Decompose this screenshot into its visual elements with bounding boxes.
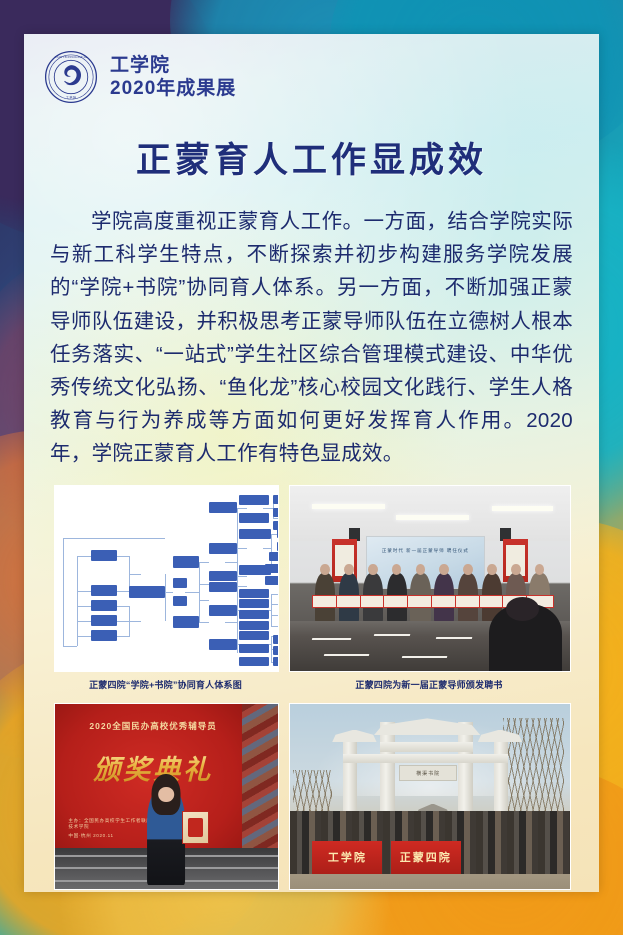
diagram-node [173, 556, 199, 568]
ceiling [290, 486, 570, 542]
diagram-node [91, 600, 117, 611]
diagram-node [273, 508, 279, 517]
person [434, 573, 454, 623]
university-emblem-icon: XI'AN TECHNOLOGICAL 工 学 院 [44, 50, 98, 104]
diagram-node [239, 631, 269, 640]
diagram-node [265, 576, 279, 585]
diagram-node [91, 615, 117, 626]
photo-certificate-ceremony[interactable]: 正蒙时代 新一届正蒙导师 聘任仪式 [289, 485, 571, 672]
diagram-node [91, 585, 117, 596]
foreground-person-head [506, 597, 540, 621]
archway-lintel [380, 742, 474, 751]
photo-caption: 正蒙四院为新一届正蒙导师颁发聘书 [289, 672, 569, 701]
ceiling-light [492, 506, 554, 511]
photo-caption: 正蒙四院组织全体正蒙导师到横渠书院参观学习优秀传统文化张载祠 [289, 890, 569, 892]
photo-diagram[interactable] [54, 485, 279, 672]
photo-cell-diagram: 正蒙四院“学院+书院”协同育人体系图 [54, 485, 277, 701]
archway-lintel [343, 754, 508, 763]
diagram-node [173, 578, 187, 588]
diagram-node [209, 582, 237, 592]
photo-award[interactable]: 2020全国民办高校优秀辅导员 颁奖典礼 主办：全国民办高校学生工作者联席会 承… [54, 703, 279, 890]
ceiling-light [396, 515, 469, 520]
photo-hengqu-academy[interactable]: 横渠书院 工学院 正蒙四院 [289, 703, 571, 890]
diagram-node [265, 564, 279, 573]
diagram-node [273, 646, 279, 655]
diagram-node [273, 521, 279, 530]
diagram-node [269, 552, 279, 561]
page-title: 正蒙育人工作显成效 [24, 132, 599, 183]
diagram-node [173, 596, 187, 606]
backdrop-main-text: 颁奖典礼 [59, 748, 246, 787]
backdrop-top-text: 2020全国民办高校优秀辅导员 [64, 720, 242, 732]
person [339, 573, 359, 623]
brand-line-2: 2020年成果展 [110, 77, 236, 100]
backdrop-sub-text-2: 中国·杭州 2020.11 [68, 833, 157, 839]
brand-text: 工学院 2020年成果展 [110, 54, 236, 100]
banner-left: 工学院 [312, 841, 382, 874]
banner-right: 正蒙四院 [391, 841, 461, 874]
academy-scene: 横渠书院 工学院 正蒙四院 [290, 704, 570, 889]
paper [435, 637, 472, 639]
diagram-canvas [55, 486, 278, 671]
diagram-node [273, 657, 279, 666]
paper [312, 638, 352, 640]
person [458, 573, 478, 623]
poster-card: XI'AN TECHNOLOGICAL 工 学 院 工学院 2020年成果展 正… [24, 34, 599, 892]
photo-cell-ceremony: 正蒙时代 新一届正蒙导师 聘任仪式 [289, 485, 569, 701]
person [387, 573, 407, 623]
ceremony-scene: 正蒙时代 新一届正蒙导师 聘任仪式 [290, 486, 570, 671]
diagram-node [209, 639, 237, 650]
diagram-node [209, 502, 237, 513]
body-paragraph: 学院高度重视正蒙育人工作。一方面，结合学院实际与新工科学生特点，不断探索并初步构… [50, 205, 573, 471]
ceiling-light [312, 504, 385, 509]
photo-caption: 正蒙四院导师王凌姣荣获全国民办高校“优秀辅导员” [54, 890, 277, 892]
award-recipient-face [159, 787, 175, 802]
diagram-node [239, 589, 269, 598]
award-certificate [182, 811, 209, 844]
paper [323, 654, 368, 656]
diagram-node [239, 644, 269, 653]
diagram-node [239, 621, 269, 630]
diagram-node [209, 571, 237, 581]
paper [374, 634, 411, 636]
diagram-node [209, 543, 237, 554]
diagram-node [209, 605, 237, 616]
diagram-node-center [129, 586, 165, 598]
diagram-node [277, 542, 279, 551]
diagram-node [239, 657, 269, 666]
banner-left-text: 工学院 [312, 841, 382, 874]
person [363, 573, 383, 623]
photo-cell-academy: 横渠书院 工学院 正蒙四院 正蒙四院组织全体正蒙导师到横渠书院参观学习优秀传统文… [289, 703, 569, 892]
diagram-node [239, 599, 269, 608]
person [315, 573, 335, 623]
banner-right-text: 正蒙四院 [391, 841, 461, 874]
svg-text:工 学 院: 工 学 院 [66, 95, 76, 100]
award-scene: 2020全国民办高校优秀辅导员 颁奖典礼 主办：全国民办高校学生工作者联席会 承… [55, 704, 278, 889]
archway-plaque-text: 横渠书院 [400, 766, 456, 781]
photo-cell-award: 2020全国民办高校优秀辅导员 颁奖典礼 主办：全国民办高校学生工作者联席会 承… [54, 703, 277, 892]
poster-header: XI'AN TECHNOLOGICAL 工 学 院 工学院 2020年成果展 [24, 34, 599, 114]
diagram-node [273, 635, 279, 644]
diagram-node [239, 495, 269, 505]
photo-caption: 正蒙四院“学院+书院”协同育人体系图 [54, 672, 277, 701]
diagram-node [91, 630, 117, 641]
diagram-node [239, 610, 269, 619]
svg-text:XI'AN TECHNOLOGICAL: XI'AN TECHNOLOGICAL [54, 55, 87, 59]
diagram-node [239, 529, 271, 539]
diagram-node [91, 550, 117, 561]
diagram-node [277, 529, 279, 538]
photo-grid: 正蒙四院“学院+书院”协同育人体系图 正蒙时代 新一届 [54, 485, 569, 892]
paper [402, 656, 447, 658]
brand-line-1: 工学院 [110, 54, 236, 77]
person [410, 573, 430, 623]
poster-root: XI'AN TECHNOLOGICAL 工 学 院 工学院 2020年成果展 正… [0, 0, 623, 935]
diagram-node [173, 616, 199, 628]
diagram-node [273, 495, 279, 504]
diagram-node [239, 513, 269, 523]
archway-plaque: 横渠书院 [399, 765, 457, 782]
screen-text: 正蒙时代 新一届正蒙导师 聘任仪式 [367, 548, 485, 554]
